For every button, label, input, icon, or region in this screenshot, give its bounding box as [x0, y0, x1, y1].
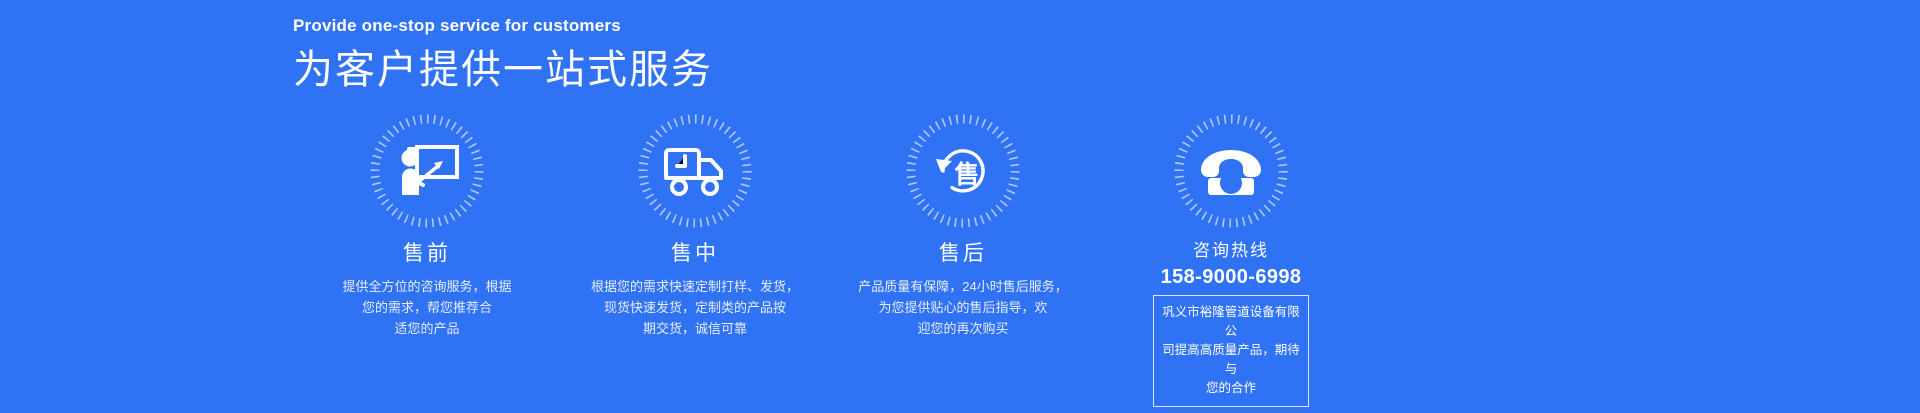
hotline-title: 咨询热线: [1193, 240, 1269, 262]
desc-line: 为您提供贴心的售后指导，欢: [838, 297, 1088, 318]
desc-line: 现货快速发货，定制类的产品按: [570, 297, 820, 318]
desc-line: 您的需求，帮您推荐合: [302, 297, 552, 318]
column-title: 售中: [671, 240, 719, 267]
svg-text:售: 售: [954, 160, 979, 189]
after-sale-refresh-icon: 售: [929, 140, 997, 202]
column-title: 售后: [939, 240, 987, 267]
telephone-icon: [1197, 140, 1265, 202]
column-description: 产品质量有保障，24小时售后服务， 为您提供贴心的售后指导，欢 迎您的再次购买: [838, 276, 1088, 339]
service-column-hotline[interactable]: 咨询热线 158-9000-6998 巩义市裕隆管道设备有限公 司提高高质量产品…: [1097, 112, 1365, 407]
presenter-board-icon: [393, 140, 461, 202]
desc-line: 迎您的再次购买: [838, 318, 1088, 339]
banner-title: 为客户提供一站式服务: [293, 45, 713, 95]
banner-subtitle: Provide one-stop service for customers: [293, 16, 713, 36]
company-info-line: 您的合作: [1162, 379, 1300, 398]
company-info-line: 巩义市裕隆管道设备有限公: [1162, 303, 1300, 341]
desc-line: 根据您的需求快速定制打样、发货，: [570, 276, 820, 297]
service-column-presale[interactable]: 售前 提供全方位的咨询服务，根据 您的需求，帮您推荐合 适您的产品: [293, 112, 561, 407]
icon-ring-aftersale: 售: [904, 112, 1022, 230]
desc-line: 提供全方位的咨询服务，根据: [302, 276, 552, 297]
company-info-box: 巩义市裕隆管道设备有限公 司提高高质量产品，期待与 您的合作: [1153, 295, 1309, 407]
service-column-aftersale[interactable]: 售 售后 产品质量有保障，24小时售后服务， 为您提供贴心的售后指导，欢 迎您的…: [829, 112, 1097, 407]
service-banner: Provide one-stop service for customers 为…: [0, 0, 1920, 413]
icon-ring-insale: [636, 112, 754, 230]
hotline-number[interactable]: 158-9000-6998: [1161, 265, 1302, 289]
company-info-line: 司提高高质量产品，期待与: [1162, 341, 1300, 379]
banner-heading: Provide one-stop service for customers 为…: [293, 16, 713, 95]
column-description: 提供全方位的咨询服务，根据 您的需求，帮您推荐合 适您的产品: [302, 276, 552, 339]
desc-line: 适您的产品: [302, 318, 552, 339]
icon-ring-hotline: [1172, 112, 1290, 230]
icon-ring-presale: [368, 112, 486, 230]
desc-line: 期交货，诚信可靠: [570, 318, 820, 339]
service-columns: 售前 提供全方位的咨询服务，根据 您的需求，帮您推荐合 适您的产品: [293, 112, 1633, 407]
service-column-insale[interactable]: 售中 根据您的需求快速定制打样、发货， 现货快速发货，定制类的产品按 期交货，诚…: [561, 112, 829, 407]
delivery-truck-clock-icon: [661, 140, 729, 202]
column-title: 售前: [403, 240, 451, 267]
desc-line: 产品质量有保障，24小时售后服务，: [838, 276, 1088, 297]
column-description: 根据您的需求快速定制打样、发货， 现货快速发货，定制类的产品按 期交货，诚信可靠: [570, 276, 820, 339]
